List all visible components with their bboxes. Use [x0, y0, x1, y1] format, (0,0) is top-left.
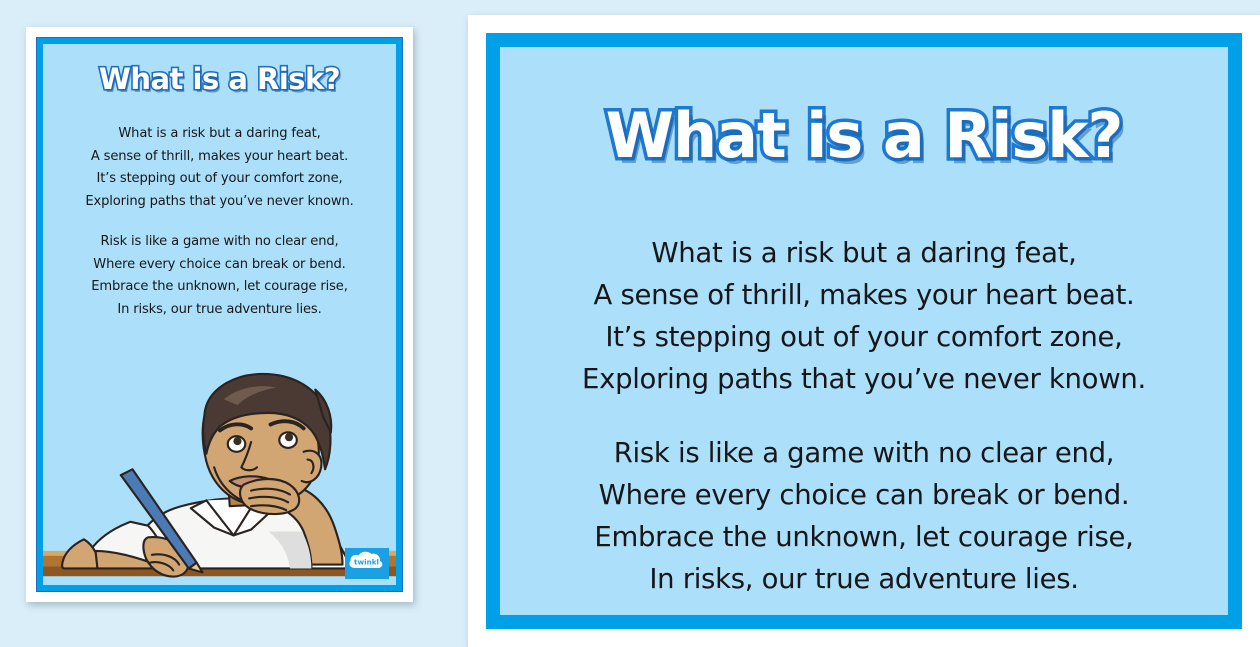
poem-line: Exploring paths that you’ve never known.	[43, 191, 396, 214]
twinkl-logo-text: twinkl	[354, 558, 379, 567]
poem-line: It’s stepping out of your comfort zone,	[43, 168, 396, 191]
poem-line: In risks, our true adventure lies.	[43, 299, 396, 322]
poem-line: Exploring paths that you’ve never known.	[500, 358, 1228, 400]
poem-line: It’s stepping out of your comfort zone,	[500, 316, 1228, 358]
poem-line: Where every choice can break or bend.	[43, 254, 396, 277]
poem-stanza-1: What is a risk but a daring feat, A sens…	[43, 123, 396, 213]
page-title: What is a Risk?	[43, 62, 396, 96]
poem-line: What is a risk but a daring feat,	[43, 123, 396, 146]
poster-thumbnail-page: What is a Risk? What is a risk but a dar…	[43, 44, 396, 585]
twinkl-logo: twinkl	[345, 548, 389, 579]
page-title-large: What is a Risk?	[500, 99, 1228, 172]
poster-preview-border: What is a Risk? What is a risk but a dar…	[486, 33, 1242, 629]
poem-line: Embrace the unknown, let courage rise,	[500, 516, 1228, 558]
poster-thumbnail-border: What is a Risk? What is a risk but a dar…	[36, 37, 403, 592]
boy-thinking-while-writing-illustration	[43, 354, 396, 585]
poem-stanza-1-large: What is a risk but a daring feat, A sens…	[500, 232, 1228, 400]
poem-line: Risk is like a game with no clear end,	[43, 231, 396, 254]
poem-line: Embrace the unknown, let courage rise,	[43, 276, 396, 299]
poem-line: A sense of thrill, makes your heart beat…	[43, 146, 396, 169]
poster-preview-large[interactable]: What is a Risk? What is a risk but a dar…	[468, 15, 1260, 647]
poem-line: In risks, our true adventure lies.	[500, 558, 1228, 600]
poem-stanza-2: Risk is like a game with no clear end, W…	[43, 231, 396, 321]
poster-preview-page: What is a Risk? What is a risk but a dar…	[500, 47, 1228, 615]
poem-line: A sense of thrill, makes your heart beat…	[500, 274, 1228, 316]
poem-line: Risk is like a game with no clear end,	[500, 432, 1228, 474]
poem-line: Where every choice can break or bend.	[500, 474, 1228, 516]
poem-line: What is a risk but a daring feat,	[500, 232, 1228, 274]
poem-stanza-2-large: Risk is like a game with no clear end, W…	[500, 432, 1228, 600]
poster-thumbnail[interactable]: What is a Risk? What is a risk but a dar…	[26, 27, 413, 602]
